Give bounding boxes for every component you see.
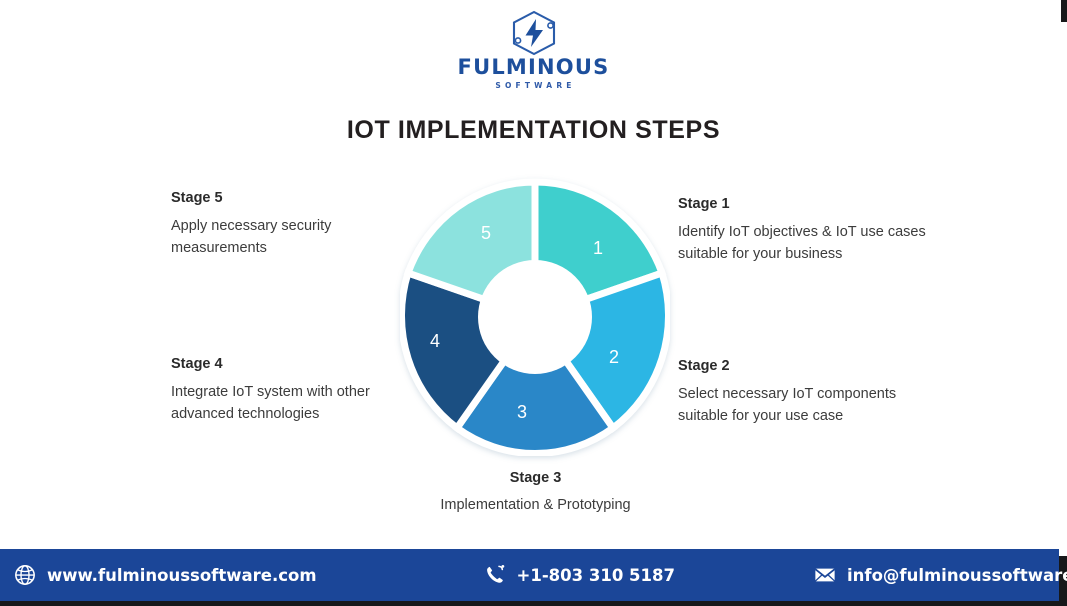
donut-label-2: 2 (609, 347, 619, 367)
page-title: IOT IMPLEMENTATION STEPS (0, 116, 1067, 145)
footer-email-link[interactable]: info@fulminoussoftware.com (814, 564, 1067, 586)
stage-block-4: Stage 4 Integrate IoT system with other … (171, 356, 406, 425)
footer-email-label: info@fulminoussoftware.com (847, 566, 1067, 585)
slide-canvas: FULMINOUS SOFTWARE IOT IMPLEMENTATION ST… (0, 0, 1067, 606)
globe-icon (14, 564, 36, 586)
brand-logo: FULMINOUS SOFTWARE (0, 10, 1067, 90)
donut-label-4: 4 (430, 331, 440, 351)
brand-wordmark: FULMINOUS (458, 57, 610, 78)
donut-label-3: 3 (517, 402, 527, 422)
stage-3-description: Implementation & Prototyping (398, 494, 673, 516)
donut-center-hole (478, 260, 592, 374)
stage-block-5: Stage 5 Apply necessary security measure… (171, 190, 386, 259)
donut-label-1: 1 (593, 238, 603, 258)
bottom-edge-band (0, 601, 1067, 606)
footer-website-link[interactable]: www.fulminoussoftware.com (14, 564, 317, 586)
envelope-icon (814, 564, 836, 586)
donut-chart-svg: 1 2 3 4 5 (400, 178, 670, 456)
fulminous-hex-bolt-logo-icon (507, 10, 561, 56)
stage-5-description: Apply necessary security measurements (171, 215, 386, 259)
contact-footer: www.fulminoussoftware.com +1-803 310 518… (0, 549, 1059, 601)
stage-block-2: Stage 2 Select necessary IoT components … (678, 358, 936, 427)
stage-block-1: Stage 1 Identify IoT objectives & IoT us… (678, 196, 936, 265)
stage-1-description: Identify IoT objectives & IoT use cases … (678, 221, 936, 265)
stage-4-title: Stage 4 (171, 356, 406, 372)
brand-tagline: SOFTWARE (491, 81, 575, 90)
stage-3-title: Stage 3 (398, 470, 673, 486)
stage-2-description: Select necessary IoT components suitable… (678, 383, 936, 427)
footer-phone-link[interactable]: +1-803 310 5187 (484, 564, 675, 586)
stage-4-description: Integrate IoT system with other advanced… (171, 381, 406, 425)
stage-2-title: Stage 2 (678, 358, 936, 374)
stage-block-3: Stage 3 Implementation & Prototyping (398, 470, 673, 516)
donut-label-5: 5 (481, 223, 491, 243)
phone-icon (484, 564, 506, 586)
stage-5-title: Stage 5 (171, 190, 386, 206)
footer-phone-label: +1-803 310 5187 (517, 566, 675, 585)
footer-website-label: www.fulminoussoftware.com (47, 566, 317, 585)
stage-1-title: Stage 1 (678, 196, 936, 212)
donut-chart: 1 2 3 4 5 (400, 178, 670, 456)
